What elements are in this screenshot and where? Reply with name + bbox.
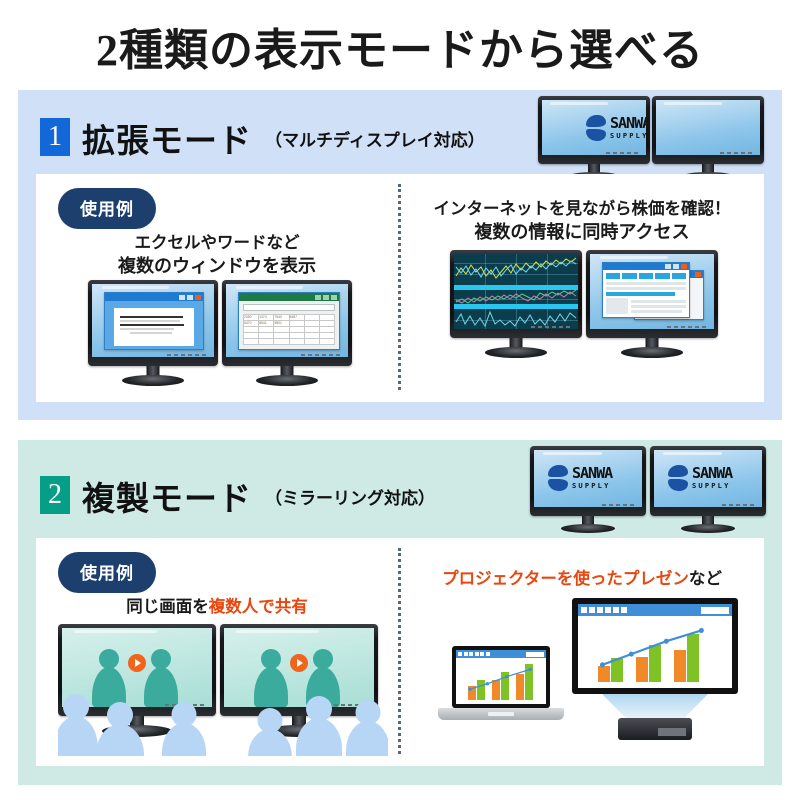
excel-titlebar	[239, 293, 339, 301]
monitor-leds	[531, 326, 570, 328]
sanwa-logo: SANWA SUPPLY	[668, 465, 732, 491]
audience-silhouette	[162, 702, 206, 756]
toolbar-icon[interactable]	[464, 652, 468, 656]
section2-examples-panel: 使用例 同じ画面を複数人で共有	[36, 538, 764, 766]
example2-caption: プロジェクターを使ったプレゼンなど	[400, 568, 764, 590]
monitor-leds	[722, 504, 754, 506]
toolbar-icon[interactable]	[597, 607, 603, 613]
doc-text-line	[120, 324, 184, 326]
maximize-icon[interactable]	[323, 295, 329, 300]
example2-caption-tail: など	[689, 570, 722, 588]
doc-text-line	[120, 320, 180, 322]
example1-monitor-pair: 2050137475405487 547085419801	[88, 280, 356, 392]
infographic-page: 2種類の表示モードから選べる 1 拡張モード （マルチディスプレイ対応）	[0, 0, 800, 800]
audience-silhouette	[96, 702, 144, 756]
sanwa-logo: SANWA SUPPLY	[548, 465, 612, 491]
toolbar-icon[interactable]	[486, 652, 490, 656]
search-box[interactable]	[701, 607, 729, 614]
projector-screen-content	[578, 604, 732, 688]
trend-line	[462, 664, 540, 700]
section2-number-badge: 2	[40, 476, 70, 514]
example1-monitor-pair	[58, 624, 388, 756]
monitor-leds	[602, 504, 634, 506]
toolbar-icon[interactable]	[581, 607, 587, 613]
maximize-icon[interactable]	[187, 295, 193, 300]
search-box[interactable]	[526, 652, 544, 657]
sanwa-logo-text-line1: SANWA	[610, 116, 646, 131]
word-window	[104, 292, 204, 350]
screen-glint	[664, 102, 721, 105]
projector-bar-chart	[588, 624, 722, 682]
screen-glint	[543, 452, 602, 455]
screen-glint	[600, 256, 668, 259]
section-mirror-mode: 2 複製モード （ミラーリング対応） S	[18, 440, 782, 785]
nav-tab[interactable]	[655, 273, 669, 279]
section-extended-mode: 1 拡張モード （マルチディスプレイ対応）	[18, 90, 782, 420]
browser-content	[603, 282, 689, 315]
cell	[259, 339, 274, 345]
example2-caption-highlight: プロジェクターを使ったプレゼン	[442, 570, 689, 588]
monitor-leds	[720, 152, 752, 154]
audience-silhouette	[58, 694, 98, 756]
content-image-placeholder	[606, 298, 628, 314]
cell	[320, 339, 335, 345]
sanwa-logo-text-line1: SANWA	[572, 466, 612, 481]
section1-examples-panel: 使用例 エクセルやワードなど 複数のウィンドウを表示	[36, 174, 764, 402]
section2-mode-sub: （ミラーリング対応）	[265, 484, 435, 509]
section2-usage-pill: 使用例	[58, 552, 156, 593]
browser-window-front	[602, 262, 690, 318]
example2-devices	[420, 598, 750, 748]
minimize-icon[interactable]	[315, 295, 321, 300]
app-titlebar	[578, 604, 732, 616]
cell	[274, 339, 289, 345]
content-line	[631, 310, 682, 313]
browser-titlebar-front	[603, 263, 689, 270]
monitor-base	[681, 524, 735, 533]
cell	[290, 339, 305, 345]
screen-glint	[236, 286, 303, 289]
section1-header-monitors: SANWA SUPPLY	[538, 96, 766, 182]
nav-tab[interactable]	[639, 273, 653, 279]
laptop-trackpad[interactable]	[488, 712, 514, 716]
play-button-icon[interactable]	[290, 654, 308, 672]
content-line	[631, 305, 686, 308]
monitor-leds	[667, 326, 706, 328]
content-highlight-row	[606, 292, 675, 296]
page-title: 2種類の表示モードから選べる	[0, 14, 800, 78]
audience-silhouette	[346, 700, 388, 756]
stock-line-series	[454, 254, 578, 329]
play-button-icon[interactable]	[128, 654, 146, 672]
nav-tab[interactable]	[606, 273, 620, 279]
projector-screen-device	[572, 598, 738, 744]
audience-silhouette	[296, 696, 342, 756]
close-icon[interactable]	[695, 272, 701, 277]
cell	[244, 339, 259, 345]
content-line	[631, 300, 686, 303]
example1-caption-line1: エクセルやワードなど	[36, 232, 398, 254]
excel-window: 2050137475405487 547085419801	[238, 292, 340, 350]
example2-caption-line2: 複数の情報に同時アクセス	[400, 220, 764, 244]
excel-grid: 2050137475405487 547085419801	[243, 314, 335, 345]
stock-chart	[454, 254, 578, 329]
screen-glint	[663, 452, 722, 455]
sanwa-logo-text-line2: SUPPLY	[572, 483, 612, 490]
example1-caption-plain: 同じ画面を	[126, 598, 209, 616]
example2-monitor-pair	[450, 250, 720, 362]
toolbar-icon[interactable]	[621, 607, 627, 613]
word-titlebar	[105, 293, 203, 301]
minimize-icon[interactable]	[179, 295, 185, 300]
monitor-base	[561, 524, 615, 533]
example1-caption: 同じ画面を複数人で共有	[36, 596, 398, 618]
minimize-icon[interactable]	[665, 264, 671, 269]
section1-number-badge: 1	[40, 118, 70, 156]
nav-tab[interactable]	[622, 273, 636, 279]
screen-glint	[550, 102, 607, 105]
screen-glint	[102, 286, 169, 289]
close-icon[interactable]	[195, 295, 201, 300]
sanwa-logo-text-line2: SUPPLY	[692, 483, 732, 490]
cell	[305, 339, 320, 345]
content-line	[606, 282, 686, 285]
toolbar-icon[interactable]	[480, 652, 484, 656]
example1-caption-line2: 複数のウィンドウを表示	[36, 254, 398, 278]
trend-line	[588, 624, 722, 682]
example1-caption-highlight: 複数人で共有	[209, 598, 308, 616]
close-icon[interactable]	[331, 295, 337, 300]
toolbar-icon[interactable]	[458, 652, 462, 656]
section1-header: 1 拡張モード （マルチディスプレイ対応）	[18, 90, 782, 182]
example2-caption-line1: インターネットを見ながら株価を確認！	[400, 198, 764, 220]
monitor-leds	[301, 354, 340, 356]
presenter-silhouette	[254, 649, 288, 707]
laptop-screen	[456, 650, 546, 704]
monitor-base	[256, 375, 318, 386]
screen-glint	[74, 630, 157, 633]
sanwa-logo-left-half: SANWA SUPPLY	[586, 115, 646, 141]
toolbar-icon[interactable]	[475, 652, 479, 656]
toolbar-icon[interactable]	[589, 607, 595, 613]
excel-formula-bar	[243, 304, 335, 311]
monitor-leds	[167, 354, 206, 356]
section1-mode-name: 拡張モード	[82, 114, 252, 162]
content-line	[606, 287, 686, 290]
doc-text-line	[120, 328, 174, 330]
monitor-base	[621, 347, 683, 358]
doc-text-line	[120, 316, 183, 318]
maximize-icon[interactable]	[673, 264, 679, 269]
nav-tab[interactable]	[672, 273, 686, 279]
laptop-device	[438, 646, 564, 734]
app-titlebar	[456, 650, 546, 658]
screen-glint	[236, 630, 319, 633]
laptop-bar-chart	[462, 664, 540, 700]
laptop-lid	[452, 646, 550, 708]
sanwa-logo-text-line2: SUPPLY	[610, 133, 646, 140]
close-icon[interactable]	[681, 264, 687, 269]
monitor-base	[122, 375, 184, 386]
projection-surface	[572, 598, 738, 694]
projector-vent	[658, 728, 686, 736]
toolbar-icon[interactable]	[613, 607, 619, 613]
monitor-base	[485, 347, 547, 358]
section2-header: 2 複製モード （ミラーリング対応） S	[18, 440, 782, 546]
section1-usage-pill: 使用例	[58, 188, 156, 229]
presenter-silhouette	[144, 649, 178, 707]
browser-nav-tabs[interactable]	[603, 270, 689, 280]
section2-mode-name: 複製モード	[82, 472, 252, 520]
word-document-page	[114, 308, 194, 346]
section1-mode-sub: （マルチディスプレイ対応）	[265, 126, 485, 151]
section2-header-monitors: SANWA SUPPLY	[530, 446, 766, 538]
toolbar-icon[interactable]	[605, 607, 611, 613]
monitor-leds	[606, 152, 638, 154]
doc-text-line	[130, 332, 172, 334]
audience-silhouette	[248, 708, 292, 756]
sanwa-logo-text-line1: SANWA	[692, 466, 732, 481]
toolbar-icon[interactable]	[469, 652, 473, 656]
